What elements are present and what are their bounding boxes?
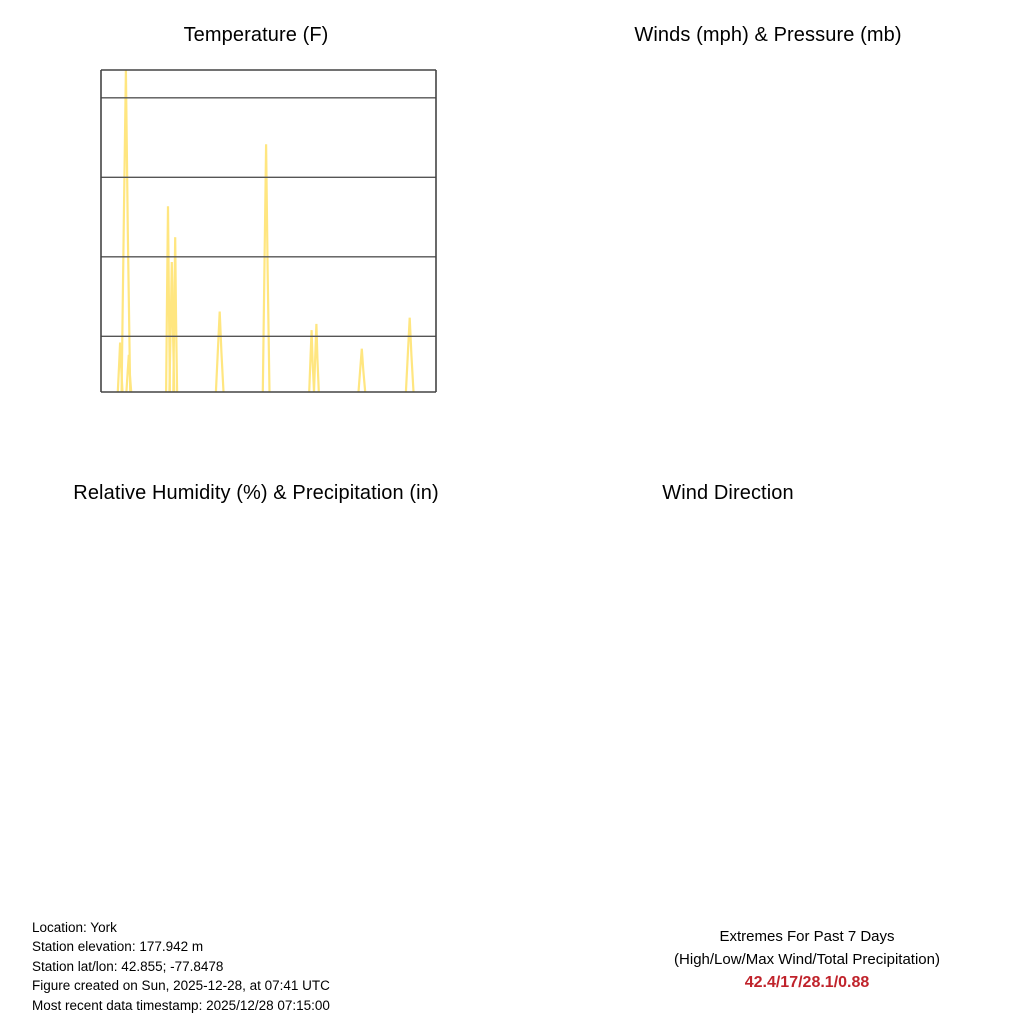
humidity-precipitation-chart (0, 460, 512, 920)
metadata-figure-created: Figure created on Sun, 2025-12-28, at 07… (32, 976, 330, 995)
wind-direction-title: Wind Direction (472, 482, 984, 505)
panel-winds-pressure: Winds (mph) & Pressure (mb) (512, 0, 1024, 460)
wind-direction-chart (512, 460, 1024, 920)
extremes-subheading: (High/Low/Max Wind/Total Precipitation) (590, 948, 1024, 971)
metadata-elevation: Station elevation: 177.942 m (32, 937, 330, 956)
solar-insolation-series (118, 70, 414, 392)
humidity-precipitation-title: Relative Humidity (%) & Precipitation (i… (0, 482, 512, 505)
winds-pressure-title: Winds (mph) & Pressure (mb) (512, 24, 1024, 47)
station-metadata: Location: York Station elevation: 177.94… (32, 918, 330, 1015)
extremes-values: 42.4/17/28.1/0.88 (590, 971, 1024, 994)
temperature-title: Temperature (F) (0, 24, 512, 47)
extremes-summary: Extremes For Past 7 Days (High/Low/Max W… (590, 925, 1024, 994)
winds-pressure-chart (512, 0, 1024, 460)
temperature-chart (0, 0, 512, 460)
metadata-latlon: Station lat/lon: 42.855; -77.8478 (32, 957, 330, 976)
metadata-location: Location: York (32, 918, 330, 937)
metadata-recent-timestamp: Most recent data timestamp: 2025/12/28 0… (32, 996, 330, 1015)
panel-temperature: Temperature (F) (0, 0, 512, 460)
extremes-heading: Extremes For Past 7 Days (590, 925, 1024, 948)
panel-wind-direction: Wind Direction (512, 460, 1024, 920)
panel-humidity-precipitation: Relative Humidity (%) & Precipitation (i… (0, 460, 512, 920)
